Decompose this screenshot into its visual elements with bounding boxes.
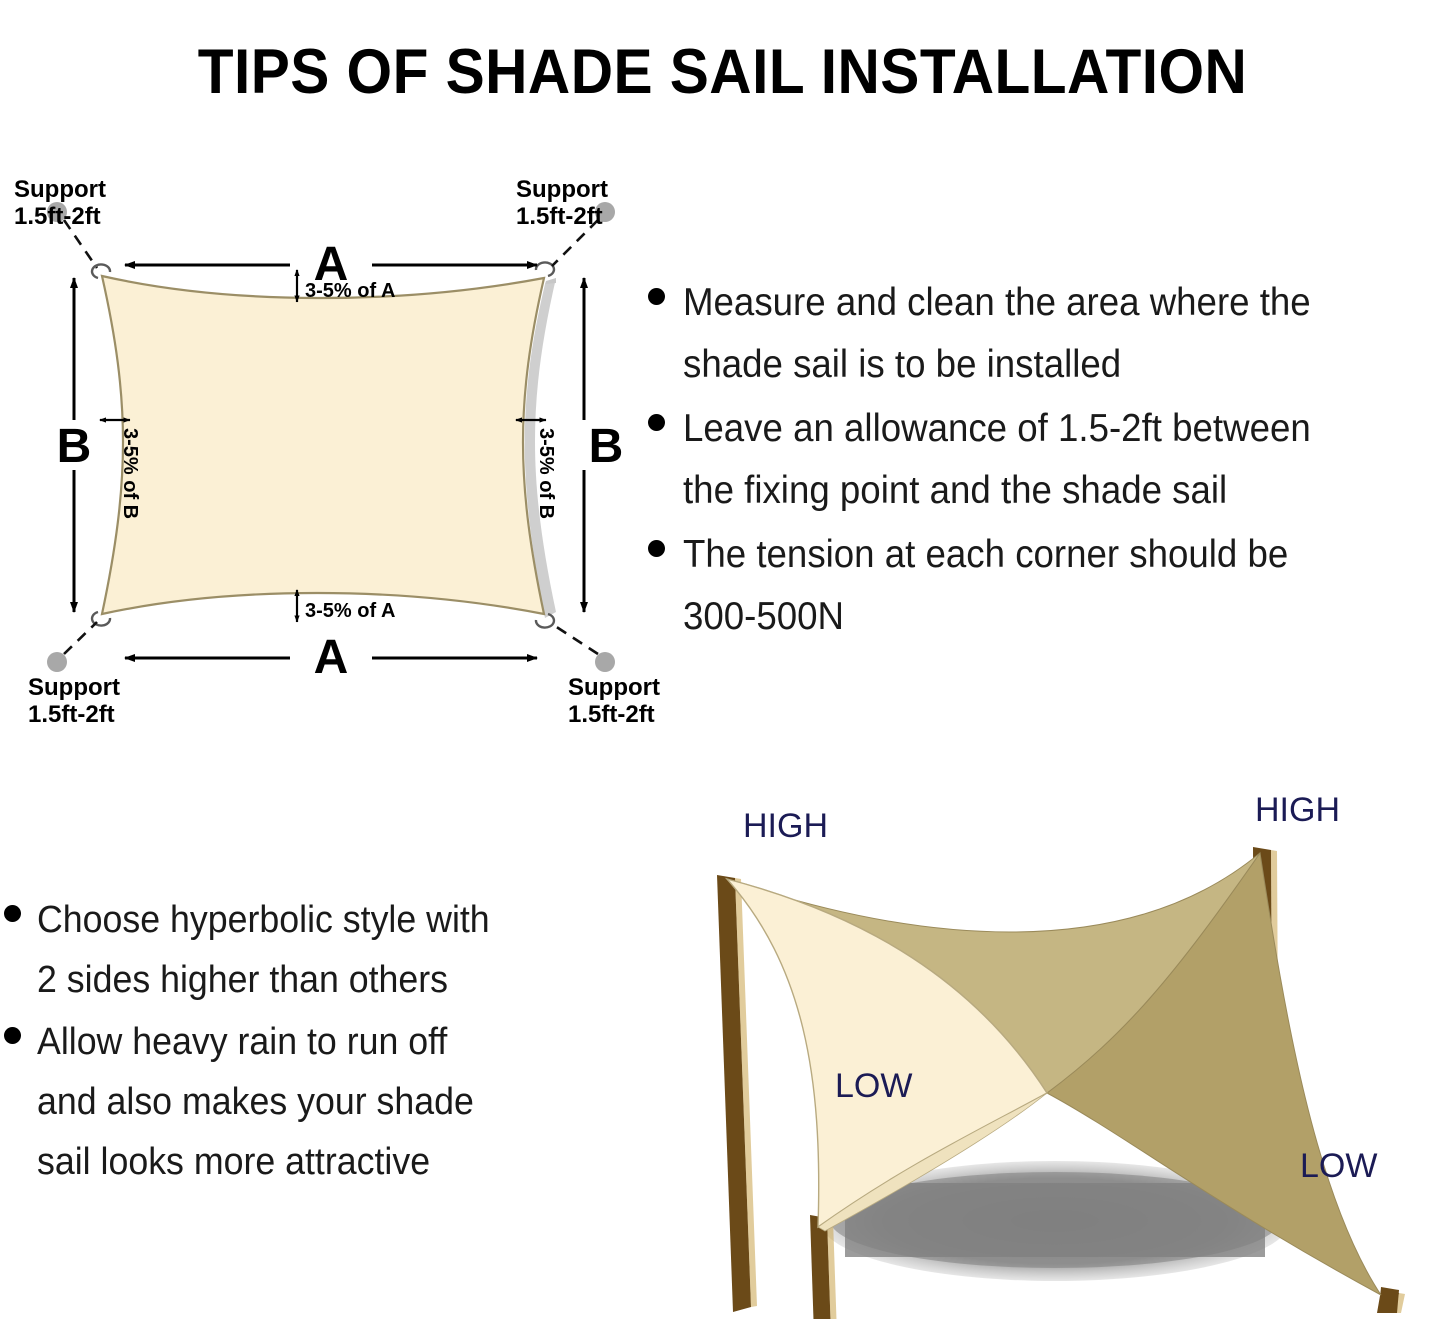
support-label-top-right: Support 1.5ft-2ft	[516, 176, 608, 230]
support-label-value: 1.5ft-2ft	[14, 203, 101, 230]
list-item: Measure and clean the area where the sha…	[648, 272, 1445, 396]
hyperbolic-sail-illustration: HIGH HIGH LOW LOW	[655, 775, 1445, 1319]
support-label-bottom-right: Support 1.5ft-2ft	[568, 674, 660, 728]
support-label-text: Support	[28, 674, 120, 701]
support-label-value: 1.5ft-2ft	[516, 203, 603, 230]
bullet-dot-icon	[4, 905, 21, 922]
list-item-label: Leave an allowance of 1.5-2ft between th…	[683, 398, 1311, 522]
dimension-b-left: B	[57, 278, 92, 612]
dimension-a-bottom: A	[125, 631, 537, 684]
list-item-label: The tension at each corner should be 300…	[683, 524, 1288, 648]
dimension-b-right: B	[584, 278, 623, 612]
curvature-callout-left: 3-5% of B	[100, 420, 141, 519]
list-item-label: Allow heavy rain to run off and also mak…	[37, 1012, 474, 1192]
dimension-label-b-right: B	[589, 420, 624, 473]
support-label-text: Support	[516, 176, 608, 203]
list-item-label: Measure and clean the area where the sha…	[683, 272, 1311, 396]
installation-tips-list-bottom: Choose hyperbolic style with 2 sides hig…	[4, 890, 644, 1194]
dimension-label-a-bottom: A	[314, 631, 349, 684]
curvature-label-left: 3-5% of B	[119, 428, 141, 519]
list-item: Choose hyperbolic style with 2 sides hig…	[4, 890, 644, 1010]
page-title: TIPS OF SHADE SAIL INSTALLATION	[51, 36, 1395, 108]
support-label-value: 1.5ft-2ft	[28, 701, 115, 728]
post-label-low-right: LOW	[1300, 1147, 1377, 1185]
curvature-label-top: 3-5% of A	[305, 280, 395, 302]
list-item-label: Choose hyperbolic style with 2 sides hig…	[37, 890, 490, 1010]
support-dot-bottom-right	[595, 652, 615, 672]
bullet-dot-icon	[648, 540, 665, 557]
support-label-bottom-left: Support 1.5ft-2ft	[28, 674, 120, 728]
support-label-top-left: Support 1.5ft-2ft	[14, 176, 106, 230]
curvature-label-right: 3-5% of B	[535, 428, 557, 519]
list-item: Allow heavy rain to run off and also mak…	[4, 1012, 644, 1192]
installation-tips-list-top: Measure and clean the area where the sha…	[648, 272, 1445, 650]
post-label-high-left: HIGH	[743, 807, 828, 845]
rectangle-sail-diagram: Support 1.5ft-2ft Support 1.5ft-2ft Supp…	[0, 150, 660, 730]
support-label-value: 1.5ft-2ft	[568, 701, 655, 728]
sail-shape	[102, 276, 544, 614]
post-label-high-right: HIGH	[1255, 791, 1340, 829]
bullet-dot-icon	[648, 288, 665, 305]
curvature-label-bottom: 3-5% of A	[305, 600, 395, 622]
post-back-left	[717, 875, 757, 1312]
support-dot-bottom-left	[47, 652, 67, 672]
bullet-dot-icon	[648, 414, 665, 431]
list-item: Leave an allowance of 1.5-2ft between th…	[648, 398, 1445, 522]
list-item: The tension at each corner should be 300…	[648, 524, 1445, 648]
post-label-low-left: LOW	[835, 1067, 912, 1105]
support-label-text: Support	[568, 674, 660, 701]
support-label-text: Support	[14, 176, 106, 203]
post-front-right-lower	[1379, 1287, 1399, 1313]
bullet-dot-icon	[4, 1027, 21, 1044]
dimension-label-b-left: B	[57, 420, 92, 473]
